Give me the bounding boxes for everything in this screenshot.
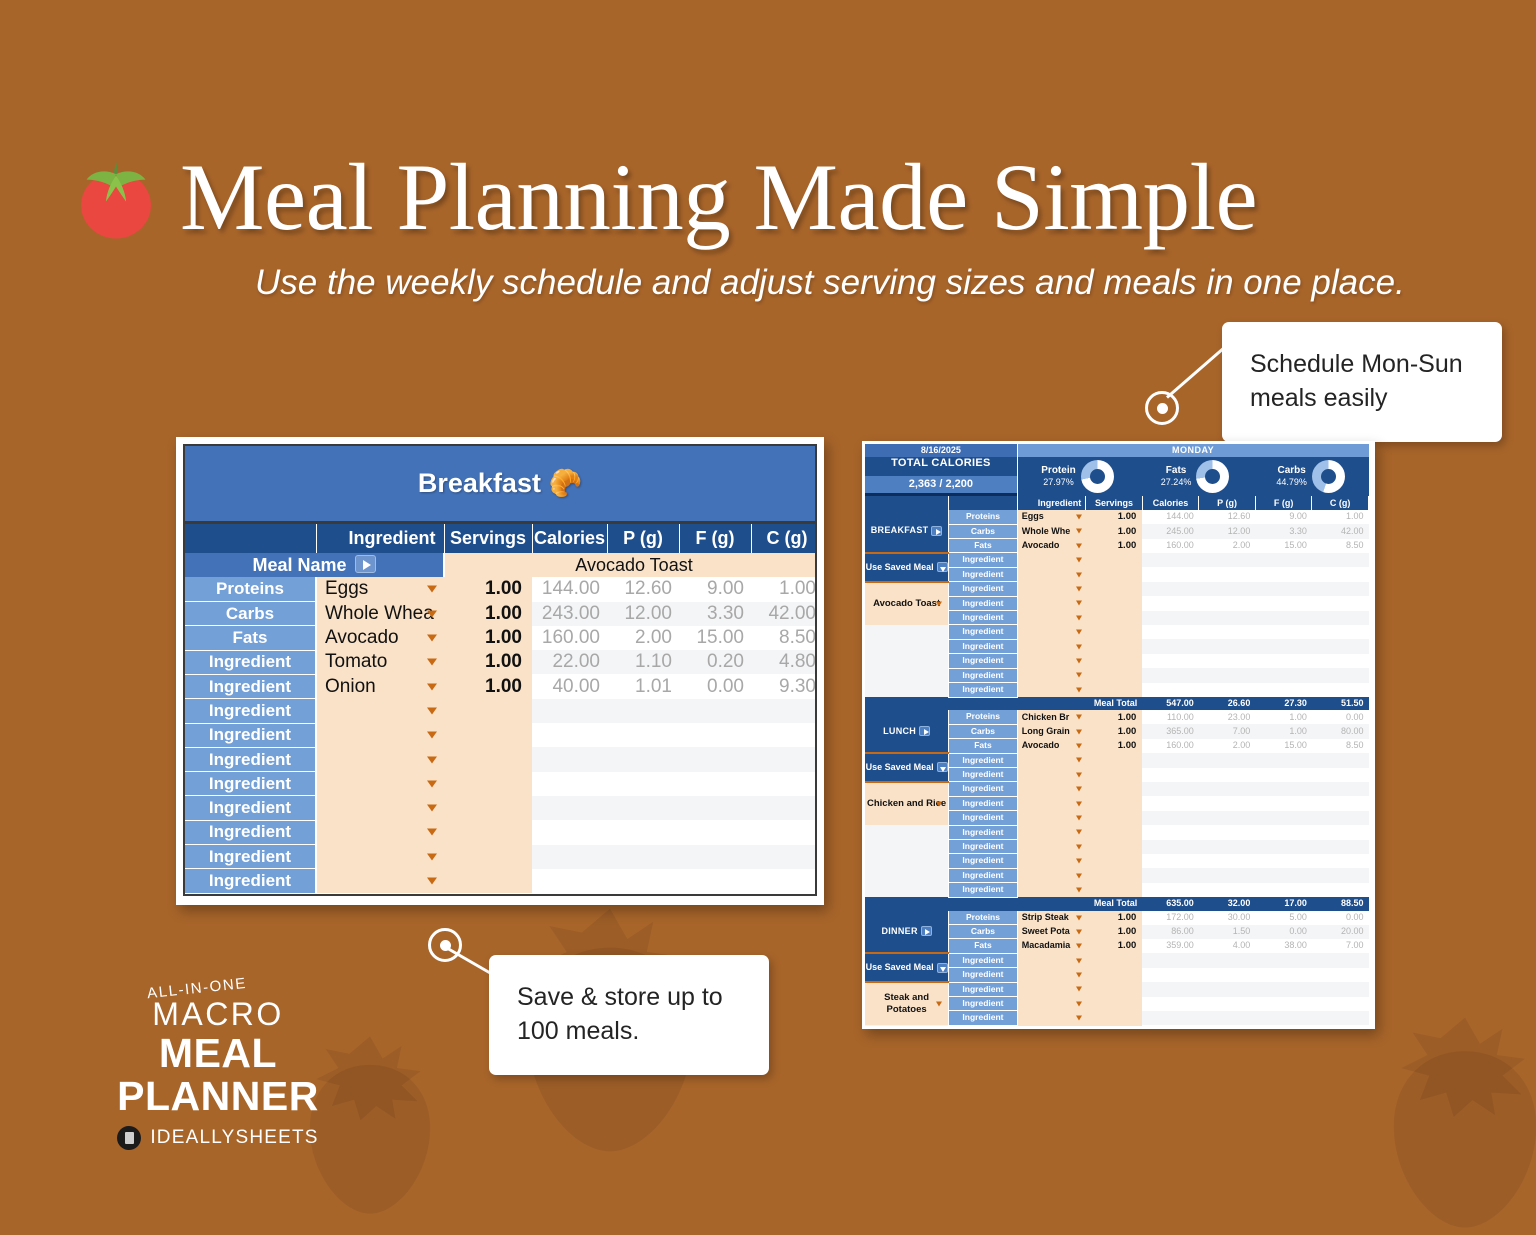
servings-cell[interactable] <box>1086 997 1143 1011</box>
carb-cell <box>1312 953 1369 967</box>
col-calories: Calories <box>1142 496 1199 510</box>
row-category: Ingredient <box>185 845 316 869</box>
servings-cell[interactable] <box>1086 825 1143 839</box>
day-header-row: 8/16/2025 MONDAY <box>865 444 1369 457</box>
servings-cell[interactable]: 1.00 <box>1086 710 1143 724</box>
protein-cell: 12.60 <box>607 577 679 601</box>
chevron-down-icon[interactable] <box>1076 830 1082 835</box>
servings-cell[interactable] <box>1086 596 1143 610</box>
ingredient-cell[interactable] <box>1017 596 1086 610</box>
ingredient-cell[interactable]: Macadamia <box>1017 939 1086 953</box>
carb-cell <box>1312 997 1369 1011</box>
carb-cell: 20.00 <box>1312 925 1369 939</box>
use-saved-meal-button[interactable]: Use Saved Meal <box>865 953 949 982</box>
fat-cell: 3.30 <box>1255 524 1312 538</box>
ingredient-cell[interactable] <box>316 820 444 844</box>
servings-cell[interactable] <box>1086 854 1143 868</box>
servings-cell[interactable] <box>444 845 532 869</box>
chevron-down-icon[interactable] <box>1076 615 1082 620</box>
servings-cell[interactable] <box>1086 567 1143 581</box>
servings-cell[interactable]: 1.00 <box>1086 724 1143 738</box>
meal-name-label[interactable]: Meal Name <box>185 553 444 577</box>
macro-percent: 27.97% <box>1041 477 1075 488</box>
strawberry-watermark <box>1370 1010 1536 1235</box>
servings-cell[interactable] <box>1086 582 1143 596</box>
ingredient-cell[interactable] <box>1017 582 1086 596</box>
carb-cell <box>1312 553 1369 567</box>
calories-cell <box>1142 668 1199 682</box>
protein-cell: 1.50 <box>1199 925 1256 939</box>
servings-cell[interactable] <box>444 747 532 771</box>
chevron-down-icon[interactable] <box>427 659 437 666</box>
ingredient-cell[interactable] <box>316 869 444 893</box>
use-saved-meal-button[interactable]: Use Saved Meal <box>865 553 949 582</box>
row-category: Ingredient <box>185 747 316 771</box>
chevron-down-icon[interactable] <box>1076 758 1082 763</box>
calories-cell: 86.00 <box>1142 925 1199 939</box>
protein-cell <box>1199 654 1256 668</box>
chevron-down-icon[interactable] <box>936 1002 942 1007</box>
fat-cell <box>679 869 751 893</box>
fat-cell <box>1255 782 1312 796</box>
chevron-down-icon[interactable] <box>1076 844 1082 849</box>
servings-cell[interactable]: 1.00 <box>444 577 532 601</box>
carb-cell <box>1312 854 1369 868</box>
ingredient-cell[interactable] <box>1017 953 1086 967</box>
ingredient-cell[interactable] <box>1017 868 1086 882</box>
use-saved-meal-button[interactable]: Use Saved Meal <box>865 753 949 782</box>
schedule-table-body: BREAKFASTProteinsEggs1.00144.0012.609.00… <box>865 510 1369 1026</box>
carb-cell <box>1312 883 1369 897</box>
ingredient-cell[interactable] <box>1017 796 1086 810</box>
servings-cell[interactable] <box>1086 639 1143 653</box>
product-logo: ALL-IN-ONE MACRO MEAL PLANNER IDEALLYSHE… <box>68 980 368 1150</box>
servings-cell[interactable]: 1.00 <box>444 626 532 650</box>
chevron-down-icon[interactable] <box>427 683 437 690</box>
ingredient-cell[interactable] <box>1017 768 1086 782</box>
fat-cell <box>679 747 751 771</box>
table-row: Steak and PotatoesIngredient <box>865 982 1369 996</box>
servings-cell[interactable]: 1.00 <box>1086 939 1143 953</box>
chevron-down-icon[interactable] <box>1076 887 1082 892</box>
calories-cell <box>532 845 607 869</box>
saved-meal-name[interactable]: Steak and Potatoes <box>865 982 949 1025</box>
chevron-down-icon[interactable] <box>1076 787 1082 792</box>
row-category: Ingredient <box>949 567 1018 581</box>
chevron-down-icon[interactable] <box>427 586 437 593</box>
saved-meal-name[interactable]: Chicken and Rice <box>865 782 949 825</box>
chevron-down-icon[interactable] <box>427 707 437 714</box>
table-row: Ingredient <box>185 869 817 893</box>
protein-cell <box>1199 611 1256 625</box>
chevron-down-icon[interactable] <box>1076 859 1082 864</box>
ingredient-cell[interactable]: Whole Whea <box>316 602 444 626</box>
chevron-down-icon[interactable] <box>1076 572 1082 577</box>
chevron-down-icon[interactable] <box>937 562 948 572</box>
servings-cell[interactable] <box>1086 668 1143 682</box>
carb-cell <box>1312 625 1369 639</box>
totals-row: TOTAL CALORIES 2,363 / 2,200 Protein27.9… <box>865 457 1369 496</box>
servings-cell[interactable] <box>1086 883 1143 897</box>
chevron-down-icon[interactable] <box>1076 915 1082 920</box>
ingredient-cell[interactable]: Avocado <box>316 626 444 650</box>
carb-cell <box>751 820 817 844</box>
fat-cell <box>1255 796 1312 810</box>
row-category: Carbs <box>949 524 1018 538</box>
table-row: Avocado ToastIngredient <box>865 582 1369 596</box>
servings-cell[interactable] <box>1086 868 1143 882</box>
ingredient-cell[interactable]: Eggs <box>316 577 444 601</box>
chevron-down-icon[interactable] <box>1076 772 1082 777</box>
servings-cell[interactable] <box>1086 625 1143 639</box>
fat-cell <box>1255 625 1312 639</box>
ingredient-cell[interactable]: Eggs <box>1017 510 1086 524</box>
chevron-down-icon[interactable] <box>1076 958 1082 963</box>
col-ingredient: Ingredient <box>1017 496 1086 510</box>
chevron-down-icon[interactable] <box>1076 801 1082 806</box>
chevron-down-icon[interactable] <box>1076 1016 1082 1021</box>
ingredient-cell[interactable]: Whole Whe <box>1017 524 1086 538</box>
calories-cell <box>1142 553 1199 567</box>
callout-marker-schedule <box>1145 391 1179 425</box>
chevron-down-icon[interactable] <box>936 601 942 606</box>
carb-cell: 1.00 <box>751 577 817 601</box>
ingredient-cell[interactable] <box>1017 1025 1086 1026</box>
servings-cell[interactable]: 1.00 <box>1086 539 1143 553</box>
play-icon[interactable] <box>931 526 942 536</box>
servings-cell[interactable]: 1.00 <box>1086 911 1143 925</box>
ingredient-cell[interactable]: Onion <box>316 674 444 698</box>
play-icon[interactable] <box>921 926 932 936</box>
row-category: Ingredient <box>949 625 1018 639</box>
macro-percent: 27.24% <box>1161 477 1192 488</box>
chevron-down-icon[interactable] <box>1076 586 1082 591</box>
carb-cell <box>1312 753 1369 767</box>
carb-cell <box>1312 654 1369 668</box>
ingredient-cell[interactable] <box>316 747 444 771</box>
carb-cell <box>1312 639 1369 653</box>
fat-cell <box>679 796 751 820</box>
calories-cell <box>532 869 607 893</box>
carb-cell: 0.00 <box>1312 710 1369 724</box>
chevron-down-icon[interactable] <box>1076 815 1082 820</box>
servings-cell[interactable]: 1.00 <box>444 602 532 626</box>
fat-cell <box>1255 997 1312 1011</box>
chevron-down-icon[interactable] <box>1076 543 1082 548</box>
ingredient-cell[interactable] <box>1017 654 1086 668</box>
chevron-down-icon[interactable] <box>937 762 948 772</box>
chevron-down-icon[interactable] <box>1076 715 1082 720</box>
row-category: Ingredient <box>949 796 1018 810</box>
servings-cell[interactable] <box>1086 796 1143 810</box>
servings-cell[interactable] <box>444 723 532 747</box>
fat-cell <box>679 820 751 844</box>
chevron-down-icon[interactable] <box>1076 987 1082 992</box>
chevron-down-icon[interactable] <box>937 963 948 973</box>
ingredient-cell[interactable] <box>1017 567 1086 581</box>
servings-cell[interactable] <box>1086 811 1143 825</box>
fat-cell <box>1255 883 1312 897</box>
callout-leader-line-schedule <box>1166 347 1225 398</box>
servings-cell[interactable] <box>1086 782 1143 796</box>
row-category: Ingredient <box>949 968 1018 982</box>
chevron-down-icon[interactable] <box>1076 729 1082 734</box>
calories-cell <box>532 796 607 820</box>
calories-cell <box>1142 968 1199 982</box>
meal-total-carb: 51.50 <box>1312 697 1369 710</box>
servings-cell[interactable]: 1.00 <box>444 650 532 674</box>
donut-chart <box>1081 460 1114 493</box>
callout-marker-save <box>428 928 462 962</box>
carb-cell <box>1312 840 1369 854</box>
servings-cell[interactable]: 1.00 <box>1086 510 1143 524</box>
servings-cell[interactable] <box>1086 768 1143 782</box>
calories-cell <box>1142 753 1199 767</box>
chevron-down-icon[interactable] <box>427 878 437 885</box>
servings-cell[interactable] <box>1086 1011 1143 1025</box>
ingredient-cell[interactable] <box>1017 553 1086 567</box>
chevron-down-icon[interactable] <box>1076 630 1082 635</box>
section-filler <box>865 1025 949 1026</box>
ingredient-cell[interactable] <box>1017 997 1086 1011</box>
row-category: Ingredient <box>949 811 1018 825</box>
table-row: ProteinsEggs1.00144.0012.609.001.00 <box>185 577 817 601</box>
calories-cell: 22.00 <box>532 650 607 674</box>
ingredient-cell[interactable] <box>1017 968 1086 982</box>
chevron-down-icon[interactable] <box>1076 1001 1082 1006</box>
meal-total-carb: 88.50 <box>1312 897 1369 910</box>
servings-cell[interactable] <box>1086 953 1143 967</box>
servings-cell[interactable] <box>444 869 532 893</box>
carb-cell <box>1312 567 1369 581</box>
calories-cell: 144.00 <box>532 577 607 601</box>
fat-cell <box>679 699 751 723</box>
col-calories: Calories <box>532 524 607 553</box>
protein-cell <box>1199 825 1256 839</box>
calories-cell: 144.00 <box>1142 510 1199 524</box>
fat-cell: 0.00 <box>1255 925 1312 939</box>
ingredient-cell[interactable] <box>316 699 444 723</box>
chevron-down-icon[interactable] <box>427 780 437 787</box>
ingredient-cell[interactable] <box>1017 840 1086 854</box>
ingredient-cell[interactable] <box>1017 825 1086 839</box>
servings-cell[interactable] <box>1086 654 1143 668</box>
meal-total-blank <box>865 897 1086 910</box>
fat-cell <box>1255 953 1312 967</box>
chevron-down-icon[interactable] <box>1076 644 1082 649</box>
meal-total-row: Meal Total635.0032.0017.0088.50 <box>865 897 1369 910</box>
chevron-down-icon[interactable] <box>427 635 437 642</box>
chevron-down-icon[interactable] <box>427 756 437 763</box>
chevron-down-icon[interactable] <box>936 802 942 807</box>
breakfast-table: Meal Name Avocado Toast Ingredient Servi… <box>185 524 817 894</box>
carb-cell <box>751 845 817 869</box>
ingredient-cell[interactable] <box>1017 883 1086 897</box>
row-category: Ingredient <box>949 768 1018 782</box>
calories-cell <box>1142 567 1199 581</box>
chevron-down-icon[interactable] <box>1076 601 1082 606</box>
ingredient-cell[interactable] <box>1017 982 1086 996</box>
protein-cell <box>1199 982 1256 996</box>
callout-schedule: Schedule Mon-Sun meals easily <box>1222 322 1502 442</box>
protein-cell <box>1199 567 1256 581</box>
calories-cell <box>1142 953 1199 967</box>
servings-cell[interactable] <box>444 796 532 820</box>
breakfast-table-body: ProteinsEggs1.00144.0012.609.001.00Carbs… <box>185 577 817 893</box>
col-servings: Servings <box>1086 496 1143 510</box>
page-header: Meal Planning Made Simple Use the weekly… <box>70 150 1470 306</box>
chevron-down-icon[interactable] <box>1076 972 1082 977</box>
ingredient-cell[interactable]: Avocado <box>1017 739 1086 753</box>
calories-cell: 110.00 <box>1142 710 1199 724</box>
ingredient-cell[interactable]: Tomato <box>316 650 444 674</box>
ingredient-cell[interactable] <box>1017 611 1086 625</box>
chevron-down-icon[interactable] <box>1076 929 1082 934</box>
ingredient-cell[interactable] <box>316 723 444 747</box>
play-icon[interactable] <box>919 726 930 736</box>
meal-name-value[interactable]: Avocado Toast <box>444 553 817 577</box>
chevron-down-icon[interactable] <box>1076 944 1082 949</box>
servings-cell[interactable] <box>1086 982 1143 996</box>
ingredient-cell[interactable]: Long Grain <box>1017 724 1086 738</box>
ingredient-cell[interactable]: Sweet Pota <box>1017 925 1086 939</box>
chevron-down-icon[interactable] <box>1076 743 1082 748</box>
calories-cell <box>1142 796 1199 810</box>
weekly-schedule-sheet: 8/16/2025 MONDAY TOTAL CALORIES 2,363 / … <box>862 441 1375 1029</box>
servings-cell[interactable] <box>1086 753 1143 767</box>
protein-cell <box>1199 854 1256 868</box>
ingredient-cell[interactable] <box>1017 683 1086 697</box>
col-servings: Servings <box>444 524 532 553</box>
carb-cell: 80.00 <box>1312 724 1369 738</box>
row-category: Carbs <box>185 602 316 626</box>
protein-cell <box>1199 997 1256 1011</box>
servings-cell[interactable] <box>444 820 532 844</box>
protein-cell <box>607 699 679 723</box>
servings-cell[interactable] <box>444 772 532 796</box>
carb-cell <box>1312 582 1369 596</box>
servings-cell[interactable] <box>444 699 532 723</box>
servings-cell[interactable] <box>1086 683 1143 697</box>
servings-cell[interactable]: 1.00 <box>1086 925 1143 939</box>
table-row: LUNCHProteinsChicken Br1.00110.0023.001.… <box>865 710 1369 724</box>
calories-cell <box>1142 1011 1199 1025</box>
chevron-down-icon[interactable] <box>1076 658 1082 663</box>
carb-cell <box>1312 668 1369 682</box>
chevron-down-icon[interactable] <box>427 853 437 860</box>
saved-meal-name[interactable]: Avocado Toast <box>865 582 949 625</box>
section-label-breakfast[interactable]: BREAKFAST <box>865 510 949 553</box>
col-blank <box>949 496 1018 510</box>
breakfast-table-header: Ingredient Servings Calories P (g) F (g)… <box>185 524 817 553</box>
chevron-down-icon[interactable] <box>427 610 437 617</box>
calories-cell <box>1142 782 1199 796</box>
calories-cell <box>1142 611 1199 625</box>
chevron-down-icon[interactable] <box>427 829 437 836</box>
servings-cell[interactable] <box>1086 611 1143 625</box>
page-title: Meal Planning Made Simple <box>180 150 1257 245</box>
carb-cell <box>1312 811 1369 825</box>
protein-cell <box>1199 1025 1256 1026</box>
calories-cell <box>1142 596 1199 610</box>
meal-total-label: Meal Total <box>1086 697 1143 710</box>
row-category: Fats <box>949 939 1018 953</box>
schedule-date[interactable]: 8/16/2025 <box>865 444 1017 457</box>
fat-cell <box>1255 753 1312 767</box>
row-category: Ingredient <box>949 782 1018 796</box>
table-row: Ingredient <box>185 772 817 796</box>
chevron-down-icon[interactable] <box>1076 529 1082 534</box>
servings-cell[interactable] <box>1086 840 1143 854</box>
carb-cell <box>1312 968 1369 982</box>
protein-cell <box>1199 596 1256 610</box>
carb-cell: 8.50 <box>1312 739 1369 753</box>
chevron-down-icon[interactable] <box>1076 558 1082 563</box>
ingredient-cell[interactable] <box>1017 639 1086 653</box>
servings-cell[interactable] <box>1086 553 1143 567</box>
fat-cell <box>1255 1011 1312 1025</box>
chevron-down-icon[interactable] <box>427 805 437 812</box>
section-label-dinner[interactable]: DINNER <box>865 911 949 954</box>
chevron-down-icon[interactable] <box>1076 515 1082 520</box>
carb-cell <box>751 699 817 723</box>
ingredient-cell[interactable] <box>1017 625 1086 639</box>
calories-cell <box>532 723 607 747</box>
chevron-down-icon[interactable] <box>1076 687 1082 692</box>
ingredient-cell[interactable]: Strip Steak <box>1017 911 1086 925</box>
ingredient-cell[interactable] <box>1017 854 1086 868</box>
servings-cell[interactable]: 1.00 <box>444 674 532 698</box>
row-category: Ingredient <box>949 668 1018 682</box>
ingredient-cell[interactable] <box>316 796 444 820</box>
carb-cell <box>1312 796 1369 810</box>
servings-cell[interactable] <box>1086 1025 1143 1026</box>
ingredient-cell[interactable] <box>316 845 444 869</box>
ingredient-cell[interactable] <box>316 772 444 796</box>
row-category: Ingredient <box>185 796 316 820</box>
chevron-down-icon[interactable] <box>1076 873 1082 878</box>
carb-cell <box>751 796 817 820</box>
fat-cell <box>1255 582 1312 596</box>
protein-cell <box>607 796 679 820</box>
meal-total-calories: 635.00 <box>1142 897 1199 910</box>
play-icon[interactable] <box>355 555 376 573</box>
table-row: Ingredient <box>865 825 1369 839</box>
ingredient-cell[interactable] <box>1017 782 1086 796</box>
ingredient-cell[interactable]: Chicken Br <box>1017 710 1086 724</box>
ingredient-cell[interactable] <box>1017 753 1086 767</box>
row-category: Ingredient <box>949 683 1018 697</box>
ingredient-cell[interactable] <box>1017 1011 1086 1025</box>
row-category: Ingredient <box>949 553 1018 567</box>
ingredient-cell[interactable] <box>1017 811 1086 825</box>
row-category: Fats <box>949 539 1018 553</box>
ingredient-cell[interactable] <box>1017 668 1086 682</box>
meal-total-fat: 27.30 <box>1255 697 1312 710</box>
carb-cell <box>1312 825 1369 839</box>
table-row: CarbsWhole Whea1.00243.0012.003.3042.00 <box>185 602 817 626</box>
total-calories: TOTAL CALORIES 2,363 / 2,200 <box>865 457 1017 496</box>
chevron-down-icon[interactable] <box>427 732 437 739</box>
ingredient-cell[interactable]: Avocado <box>1017 539 1086 553</box>
servings-cell[interactable] <box>1086 968 1143 982</box>
section-label-lunch[interactable]: LUNCH <box>865 710 949 753</box>
chevron-down-icon[interactable] <box>1076 673 1082 678</box>
protein-cell: 12.60 <box>1199 510 1256 524</box>
servings-cell[interactable]: 1.00 <box>1086 739 1143 753</box>
servings-cell[interactable]: 1.00 <box>1086 524 1143 538</box>
calories-cell <box>1142 868 1199 882</box>
